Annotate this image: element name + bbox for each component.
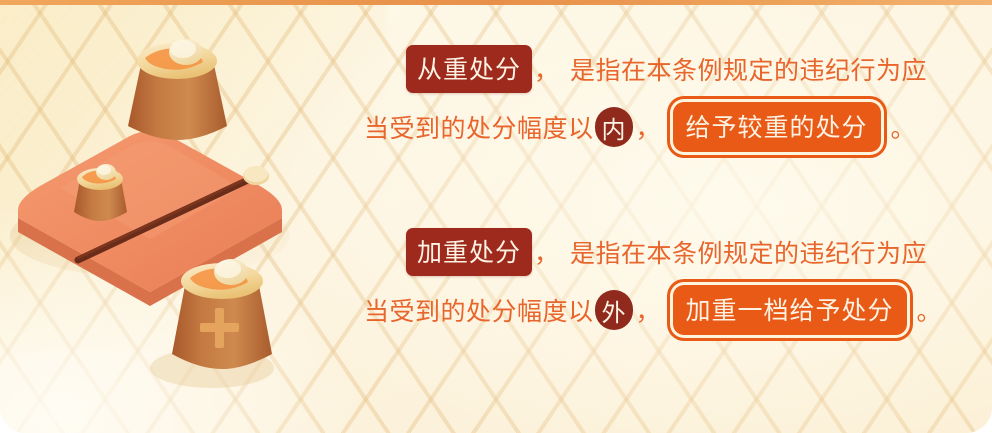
term-tag-congzhongchufen: 从重处分 — [406, 45, 532, 93]
paragraph-jiazhong: 加重处分 ， 是指在本条例规定的违纪行为应 当受到的处分幅度以 外 ， 加重一档… — [352, 223, 972, 339]
text-content: 从重处分 ， 是指在本条例规定的违纪行为应 当受到的处分幅度以 内 ， 给予较重… — [352, 40, 972, 370]
comma-4: ， — [634, 292, 663, 328]
comma-2: ， — [634, 109, 663, 145]
infographic-card: 从重处分 ， 是指在本条例规定的违纪行为应 当受到的处分幅度以 内 ， 给予较重… — [0, 0, 992, 433]
scale-weights-illustration — [0, 36, 360, 416]
term-tag-jiazhongchufen: 加重处分 — [406, 228, 532, 276]
body-text-1: 是指在本条例规定的违纪行为应 — [570, 51, 927, 87]
comma-1: ， — [532, 51, 561, 87]
body-text-4: 当受到的处分幅度以 — [364, 292, 594, 328]
period-1: 。 — [889, 109, 918, 145]
paragraph-congzhong: 从重处分 ， 是指在本条例规定的违纪行为应 当受到的处分幅度以 内 ， 给予较重… — [352, 40, 972, 156]
body-text-2: 当受到的处分幅度以 — [364, 109, 594, 145]
period-2: 。 — [915, 292, 944, 328]
weight-large — [128, 39, 227, 140]
badge-wai: 外 — [595, 290, 633, 330]
paragraph-congzhong-line2: 当受到的处分幅度以 内 ， 给予较重的处分 。 — [352, 98, 972, 156]
paragraph-jiazhong-line1: 加重处分 ， 是指在本条例规定的违纪行为应 — [352, 223, 972, 281]
top-accent-bar — [0, 0, 992, 5]
paragraph-congzhong-line1: 从重处分 ， 是指在本条例规定的违纪行为应 — [352, 40, 972, 98]
callout-geyujiaozhongdechufen: 给予较重的处分 — [673, 102, 881, 152]
body-text-3: 是指在本条例规定的违纪行为应 — [570, 234, 927, 270]
callout-jiazhongyidanggeyuchufen: 加重一档给予处分 — [673, 285, 907, 335]
badge-nei: 内 — [595, 107, 633, 147]
slider-handle — [243, 166, 269, 185]
paragraph-jiazhong-line2: 当受到的处分幅度以 外 ， 加重一档给予处分 。 — [352, 281, 972, 339]
comma-3: ， — [532, 234, 561, 270]
